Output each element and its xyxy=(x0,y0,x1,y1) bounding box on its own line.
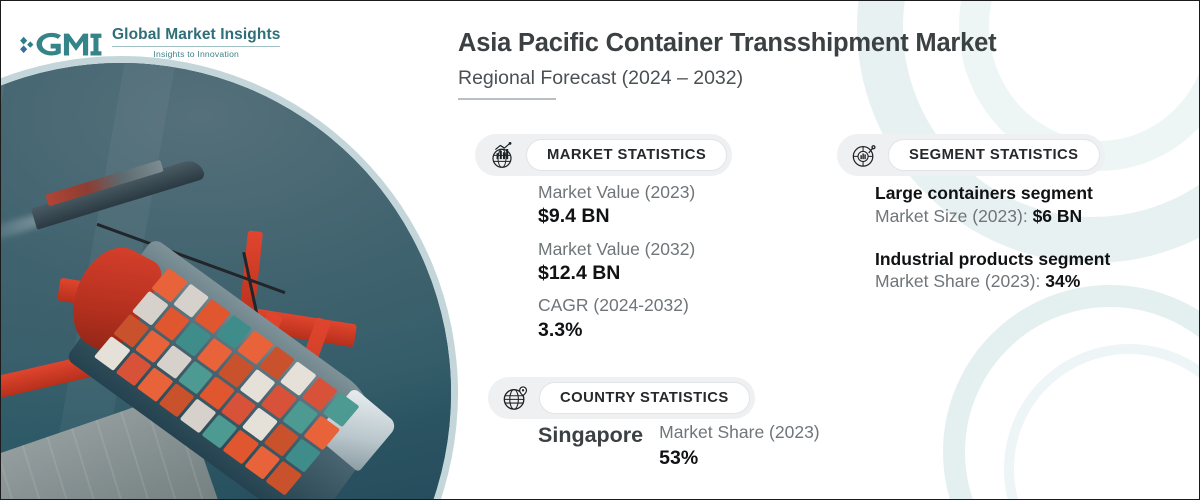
country-statistics-header: COUNTRY STATISTICS xyxy=(488,377,755,419)
market-stat-value: 3.3% xyxy=(538,317,695,343)
segment-group: Industrial products segment Market Share… xyxy=(875,248,1110,294)
market-stat-label: Market Value (2032) xyxy=(538,239,695,260)
brand-divider xyxy=(112,46,280,47)
segment-metric: Market Size (2023): $6 BN xyxy=(875,205,1110,228)
globe-pin-icon xyxy=(498,381,532,415)
segment-metric-label: Market Size (2023): xyxy=(875,206,1028,226)
market-stat-row: Market Value (2032) $12.4 BN xyxy=(538,239,695,287)
page-title: Asia Pacific Container Transshipment Mar… xyxy=(458,29,996,58)
segment-statistics-body: Large containers segment Market Size (20… xyxy=(875,182,1110,313)
country-metric: Market Share (2023) 53% xyxy=(659,422,820,470)
brand-logo[interactable]: Global Market Insights Insights to Innov… xyxy=(17,23,280,63)
market-stat-label: Market Value (2023) xyxy=(538,182,695,203)
country-metric-label: Market Share (2023) xyxy=(659,422,820,444)
decorative-arc-bottom-right xyxy=(943,285,1200,500)
market-stat-row: CAGR (2024-2032) 3.3% xyxy=(538,295,695,343)
pie-chart-growth-icon xyxy=(847,138,881,172)
market-statistics-header: MARKET STATISTICS xyxy=(475,134,732,176)
title-block: Asia Pacific Container Transshipment Mar… xyxy=(458,29,996,100)
port-photo: sales@gminsights.com www.gminsights.com xyxy=(0,63,451,500)
segment-metric: Market Share (2023): 34% xyxy=(875,270,1110,293)
page-subtitle: Regional Forecast (2024 – 2032) xyxy=(458,67,996,90)
infographic-canvas: sales@gminsights.com www.gminsights.com xyxy=(0,0,1200,500)
port-photo-scene xyxy=(0,63,451,500)
globe-bar-chart-icon xyxy=(485,138,519,172)
country-statistics-body: Singapore Market Share (2023) 53% xyxy=(538,422,820,470)
market-statistics-label: MARKET STATISTICS xyxy=(526,139,727,171)
brand-tagline: Insights to Innovation xyxy=(112,50,280,59)
segment-group: Large containers segment Market Size (20… xyxy=(875,182,1110,228)
segment-title: Large containers segment xyxy=(875,182,1110,205)
country-statistics-label: COUNTRY STATISTICS xyxy=(539,382,750,414)
segment-metric-label: Market Share (2023): xyxy=(875,271,1040,291)
market-stat-value: $12.4 BN xyxy=(538,260,695,286)
segment-statistics-label: SEGMENT STATISTICS xyxy=(888,139,1100,171)
decorative-arc-bottom-right-inner xyxy=(1004,344,1200,500)
segment-statistics-header: SEGMENT STATISTICS xyxy=(837,134,1105,176)
gmi-logo-icon xyxy=(17,23,103,63)
market-stat-label: CAGR (2024-2032) xyxy=(538,295,695,316)
segment-title: Industrial products segment xyxy=(875,248,1110,271)
market-statistics-body: Market Value (2023) $9.4 BN Market Value… xyxy=(538,182,695,352)
country-name: Singapore xyxy=(538,422,643,449)
market-stat-row: Market Value (2023) $9.4 BN xyxy=(538,182,695,230)
brand-name: Global Market Insights xyxy=(112,27,280,43)
country-metric-value: 53% xyxy=(659,446,820,470)
title-underline xyxy=(458,98,556,100)
segment-metric-value: 34% xyxy=(1045,271,1080,291)
market-stat-value: $9.4 BN xyxy=(538,203,695,229)
segment-metric-value: $6 BN xyxy=(1033,206,1083,226)
